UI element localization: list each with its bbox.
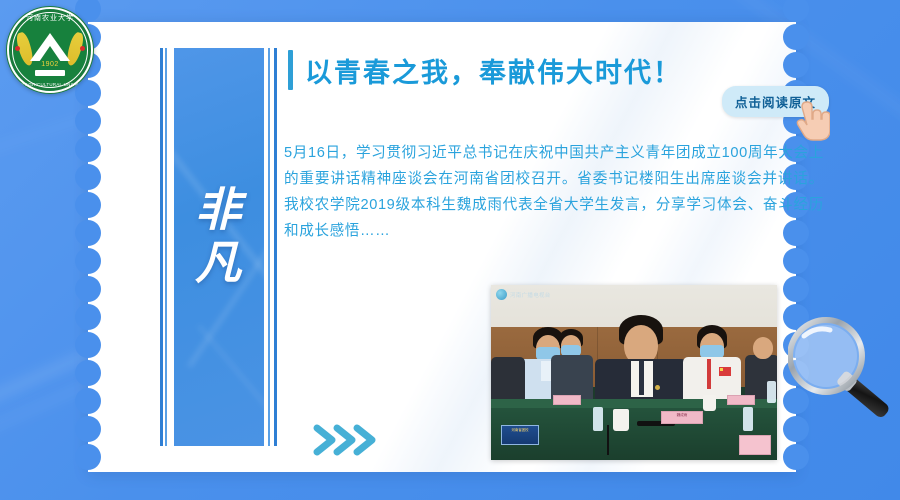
scallop-notch <box>75 220 101 246</box>
poster-canvas: 河南农业大学 1902 HENAN AGRICULTURAL UNIVERSIT… <box>0 0 900 500</box>
scallop-notch <box>75 136 101 162</box>
scallop-notch <box>75 108 101 134</box>
banner-panel: 非凡 <box>174 48 264 446</box>
photo-nameplate <box>727 395 755 405</box>
photo-nameplate <box>553 395 581 405</box>
page-title: 以青春之我，奉献伟大时代！ <box>305 51 682 90</box>
banner-stripe <box>274 48 277 446</box>
vertical-banner: 非凡 <box>160 48 280 446</box>
scallop-notch <box>75 192 101 218</box>
scallop-notch <box>75 304 101 330</box>
scallop-notch <box>75 360 101 386</box>
scallop-notch <box>783 24 809 50</box>
article-summary: 5月16日，学习贯彻习近平总书记在庆祝中国共产主义青年团成立100周年大会上的重… <box>284 140 824 244</box>
hand-pointer-icon <box>790 99 830 141</box>
headline: 以青春之我，奉献伟大时代！ <box>288 50 682 90</box>
photo-tea-cup <box>703 395 716 411</box>
scallop-notch <box>783 52 809 78</box>
banner-stripe <box>268 48 270 446</box>
broadcaster-watermark: 河南广播电视台 <box>496 289 551 300</box>
banner-stripe <box>160 48 163 446</box>
photo-mic-cable <box>607 425 609 455</box>
scallop-notch <box>75 416 101 442</box>
banner-stripe <box>165 48 167 446</box>
logo-outer-ring <box>7 7 93 93</box>
photo-tea-cup <box>613 409 629 431</box>
globe-icon <box>496 289 507 300</box>
photo-conference-sign: 河南省团校 <box>501 425 539 445</box>
scallop-notch <box>783 248 809 274</box>
conference-photo: 魏成雨 河南省团校 河南广播电视台 <box>491 285 777 460</box>
photo-nameplate: 魏成雨 <box>661 411 703 424</box>
scallop-notch <box>783 276 809 302</box>
photo-water-bottle <box>743 407 753 431</box>
headline-accent-bar <box>288 50 293 90</box>
triple-chevron-right-icon <box>312 420 382 460</box>
photo-water-bottle <box>593 407 603 431</box>
photo-nameplate <box>739 435 771 455</box>
university-logo: 河南农业大学 1902 HENAN AGRICULTURAL UNIVERSIT… <box>6 6 94 94</box>
photo-water-bottle <box>767 381 776 403</box>
banner-label: 非凡 <box>174 183 264 289</box>
scallop-notch <box>75 248 101 274</box>
scallop-notch <box>75 388 101 414</box>
scallop-notch <box>75 164 101 190</box>
scallop-notch <box>75 276 101 302</box>
magnifying-glass-icon <box>788 312 900 462</box>
scallop-notch <box>75 332 101 358</box>
scallop-notch <box>75 444 101 470</box>
